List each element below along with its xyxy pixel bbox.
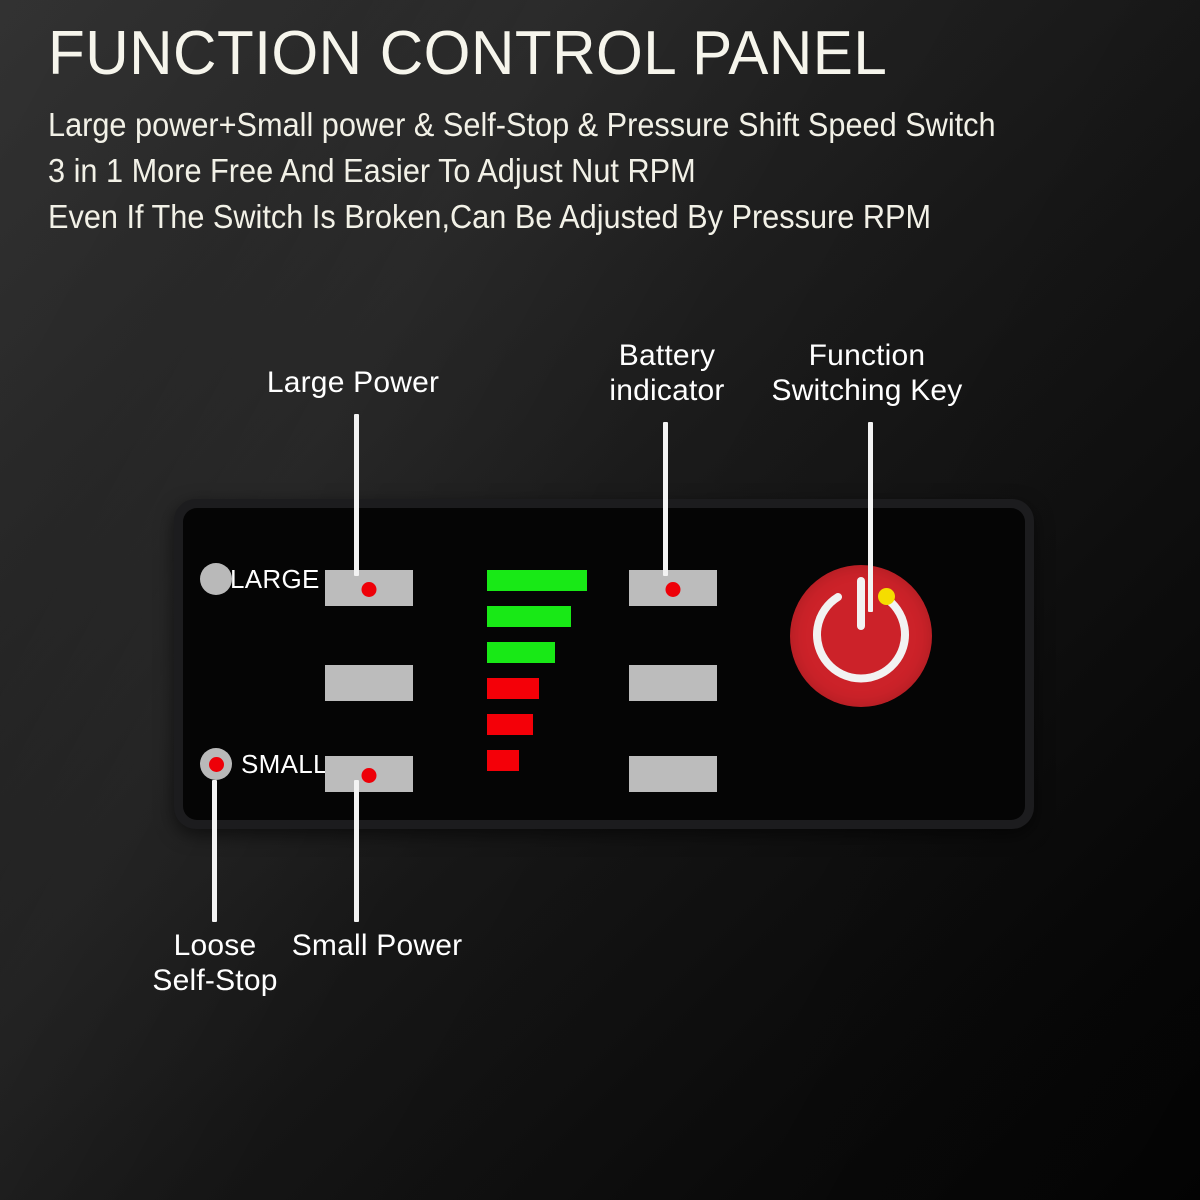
mode-row-small[interactable]: SMALL [200, 748, 328, 780]
battery-bar-segment [487, 606, 571, 627]
battery-bar-segment [487, 750, 519, 771]
key-cap-led-dot [362, 582, 377, 597]
battery-indicator-bargraph [487, 570, 607, 790]
key-cap-small-power[interactable] [325, 756, 413, 792]
callout-line-large-power [354, 414, 359, 576]
key-cap-large-power[interactable] [325, 570, 413, 606]
key-cap-led-dot [666, 582, 681, 597]
small-mode-led-dot [209, 757, 224, 772]
key-cap-right-bottom[interactable] [629, 756, 717, 792]
callout-line-battery-indicator [663, 422, 668, 576]
callout-line-loose-self-stop [212, 780, 217, 922]
subtitle-line-2: 3 in 1 More Free And Easier To Adjust Nu… [48, 148, 1090, 194]
small-mode-label: SMALL [241, 751, 328, 777]
header-block: FUNCTION CONTROL PANEL Large power+Small… [48, 18, 1168, 240]
page-title: FUNCTION CONTROL PANEL [48, 18, 1134, 90]
power-icon [790, 565, 932, 707]
callout-label-small-power: Small Power [278, 928, 476, 963]
key-cap-led-dot [362, 768, 377, 783]
large-mode-label: LARGE [230, 566, 320, 592]
battery-bar-segment [487, 714, 533, 735]
large-mode-led-icon [200, 563, 232, 595]
callout-label-loose-self-stop: Loose Self-Stop [130, 928, 300, 998]
battery-bar-segment [487, 678, 539, 699]
small-mode-led-icon [200, 748, 232, 780]
callout-line-function-switching-key [868, 422, 873, 612]
battery-bar-segment [487, 570, 587, 591]
function-key-indicator-dot [878, 588, 895, 605]
control-panel-face: LARGE SMALL [183, 508, 1025, 820]
callout-line-small-power [354, 780, 359, 922]
control-panel-infographic: FUNCTION CONTROL PANEL Large power+Small… [0, 0, 1200, 1200]
subtitle-line-3: Even If The Switch Is Broken,Can Be Adju… [48, 194, 1090, 240]
callout-label-large-power: Large Power [248, 365, 458, 400]
key-cap-right-middle[interactable] [629, 665, 717, 701]
callout-label-function-switching-key: Function Switching Key [764, 338, 970, 408]
mode-row-large[interactable]: LARGE [200, 563, 320, 595]
subtitle-line-1: Large power+Small power & Self-Stop & Pr… [48, 102, 1090, 148]
key-cap-left-middle[interactable] [325, 665, 413, 701]
key-cap-battery-indicator[interactable] [629, 570, 717, 606]
callout-label-battery-indicator: Battery indicator [584, 338, 750, 408]
function-switching-key-button[interactable] [790, 565, 932, 707]
control-panel: LARGE SMALL [174, 499, 1034, 829]
battery-bar-segment [487, 642, 555, 663]
